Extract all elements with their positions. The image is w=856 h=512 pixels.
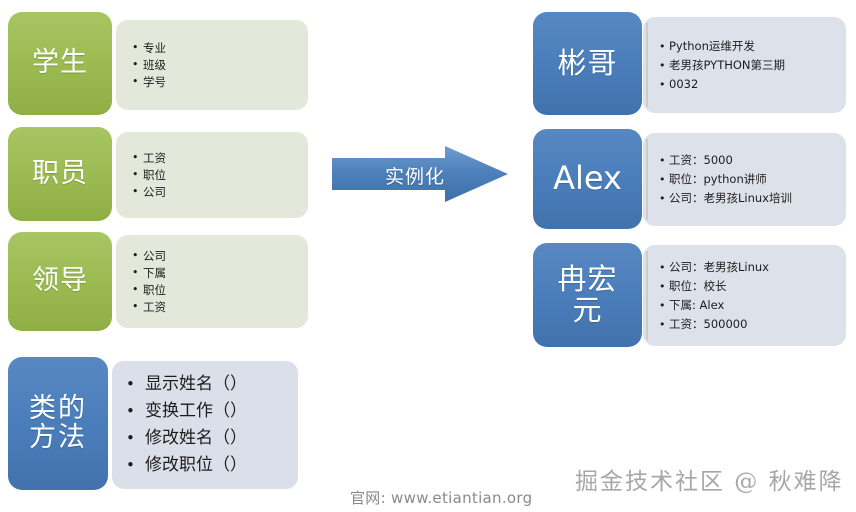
class-name-label: 学生	[32, 49, 88, 78]
attribute-item: 工资：500000	[659, 315, 846, 334]
class-methods-label-line2: 方法	[29, 424, 87, 453]
method-item: 修改姓名（）	[126, 425, 298, 452]
instance-name-tag-ranhongyuan[interactable]: 冉宏 元	[533, 243, 642, 347]
attribute-item: 职位	[132, 167, 308, 184]
diagram-canvas: 专业 班级 学号 学生 工资 职位 公司 职员 公司 下属 职位	[0, 0, 856, 512]
instance-row-alex: 工资：5000 职位：python讲师 公司：老男孩Linux培训 Alex	[533, 129, 846, 229]
instantiation-arrow: 实例化	[330, 146, 510, 208]
class-attributes-panel-staff: 工资 职位 公司	[116, 132, 308, 218]
instance-name-label-line1: 冉宏	[557, 264, 617, 295]
class-name-label: 领导	[32, 267, 88, 296]
attribute-item: 职位：校长	[659, 277, 846, 296]
instance-name-tag-alex[interactable]: Alex	[533, 129, 642, 229]
attribute-item: 公司：老男孩Linux培训	[659, 189, 846, 208]
panel-seam	[646, 23, 648, 107]
attribute-item: 公司	[132, 248, 308, 265]
attribute-item: 工资：5000	[659, 151, 846, 170]
instance-name-label: 彬哥	[557, 48, 617, 79]
instance-name-label-line2: 元	[572, 295, 602, 326]
class-methods-panel: 显示姓名（） 变换工作（） 修改姓名（） 修改职位（）	[112, 361, 298, 489]
right-arrow-icon	[330, 146, 510, 208]
instance-row-bingge: Python运维开发 老男孩PYTHON第三期 0032 彬哥	[533, 12, 846, 115]
attribute-item: 公司	[132, 184, 308, 201]
attribute-item: Python运维开发	[659, 37, 846, 56]
attribute-item: 职位：python讲师	[659, 170, 846, 189]
attribute-item: 工资	[132, 299, 308, 316]
class-name-tag-leader[interactable]: 领导	[8, 232, 112, 331]
site-watermark: 官网: www.etiantian.org	[350, 487, 532, 508]
class-methods-row: 显示姓名（） 变换工作（） 修改姓名（） 修改职位（） 类的 方法	[8, 357, 298, 490]
attribute-item: 工资	[132, 150, 308, 167]
method-item: 修改职位（）	[126, 452, 298, 479]
instance-row-ranhongyuan: 公司：老男孩Linux 职位：校长 下属: Alex 工资：500000 冉宏 …	[533, 243, 846, 347]
attribute-item: 职位	[132, 282, 308, 299]
class-row-staff: 工资 职位 公司 职员	[8, 127, 308, 221]
attribute-item: 学号	[132, 74, 308, 91]
class-methods-label-line1: 类的	[29, 395, 87, 424]
class-row-leader: 公司 下属 职位 工资 领导	[8, 232, 308, 331]
class-row-student: 专业 班级 学号 学生	[8, 12, 308, 115]
instance-name-label: Alex	[553, 162, 622, 196]
attribute-item: 班级	[132, 57, 308, 74]
class-name-label: 职员	[32, 160, 88, 189]
panel-seam	[646, 251, 648, 340]
brand-watermark: 掘金技术社区 @ 秋难降	[575, 462, 844, 496]
attribute-item: 老男孩PYTHON第三期	[659, 56, 846, 75]
instance-attributes-panel-bingge: Python运维开发 老男孩PYTHON第三期 0032	[643, 17, 846, 113]
attribute-item: 下属: Alex	[659, 296, 846, 315]
class-attributes-panel-student: 专业 班级 学号	[116, 20, 308, 110]
class-methods-tag[interactable]: 类的 方法	[8, 357, 108, 490]
method-item: 显示姓名（）	[126, 371, 298, 398]
instance-name-tag-bingge[interactable]: 彬哥	[533, 12, 642, 115]
class-attributes-panel-leader: 公司 下属 职位 工资	[116, 235, 308, 328]
attribute-item: 0032	[659, 75, 846, 94]
attribute-item: 下属	[132, 265, 308, 282]
class-name-tag-student[interactable]: 学生	[8, 12, 112, 115]
panel-seam	[646, 139, 648, 220]
attribute-item: 公司：老男孩Linux	[659, 258, 846, 277]
class-name-tag-staff[interactable]: 职员	[8, 127, 112, 221]
instance-attributes-panel-alex: 工资：5000 职位：python讲师 公司：老男孩Linux培训	[643, 133, 846, 226]
attribute-item: 专业	[132, 40, 308, 57]
method-item: 变换工作（）	[126, 398, 298, 425]
instance-attributes-panel-ranhongyuan: 公司：老男孩Linux 职位：校长 下属: Alex 工资：500000	[643, 245, 846, 346]
